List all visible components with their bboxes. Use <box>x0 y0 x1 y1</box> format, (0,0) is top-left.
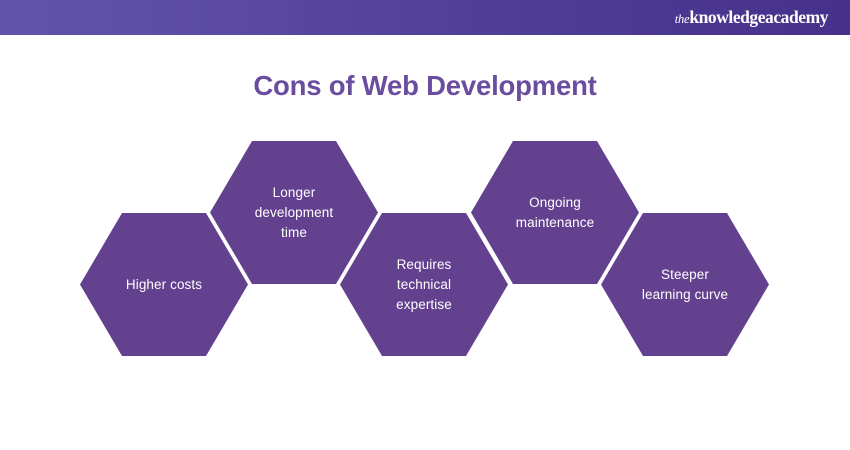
hexagon-item-label: Requires technical expertise <box>396 255 452 315</box>
hexagon-item: Requires technical expertise <box>340 213 508 356</box>
hexagon-item-label: Longer development time <box>255 183 333 243</box>
hexagon-item-label: Ongoing maintenance <box>516 193 594 233</box>
hexagon-item: Higher costs <box>80 213 248 356</box>
hexagon-diagram: Higher costs Longer development time Req… <box>0 0 850 450</box>
hexagon-item: Ongoing maintenance <box>471 141 639 284</box>
hexagon-item: Longer development time <box>210 141 378 284</box>
slide-canvas: theknowledgeacademy Cons of Web Developm… <box>0 0 850 450</box>
hexagon-item-label: Steeper learning curve <box>642 265 728 305</box>
hexagon-item: Steeper learning curve <box>601 213 769 356</box>
hexagon-item-label: Higher costs <box>126 275 202 295</box>
